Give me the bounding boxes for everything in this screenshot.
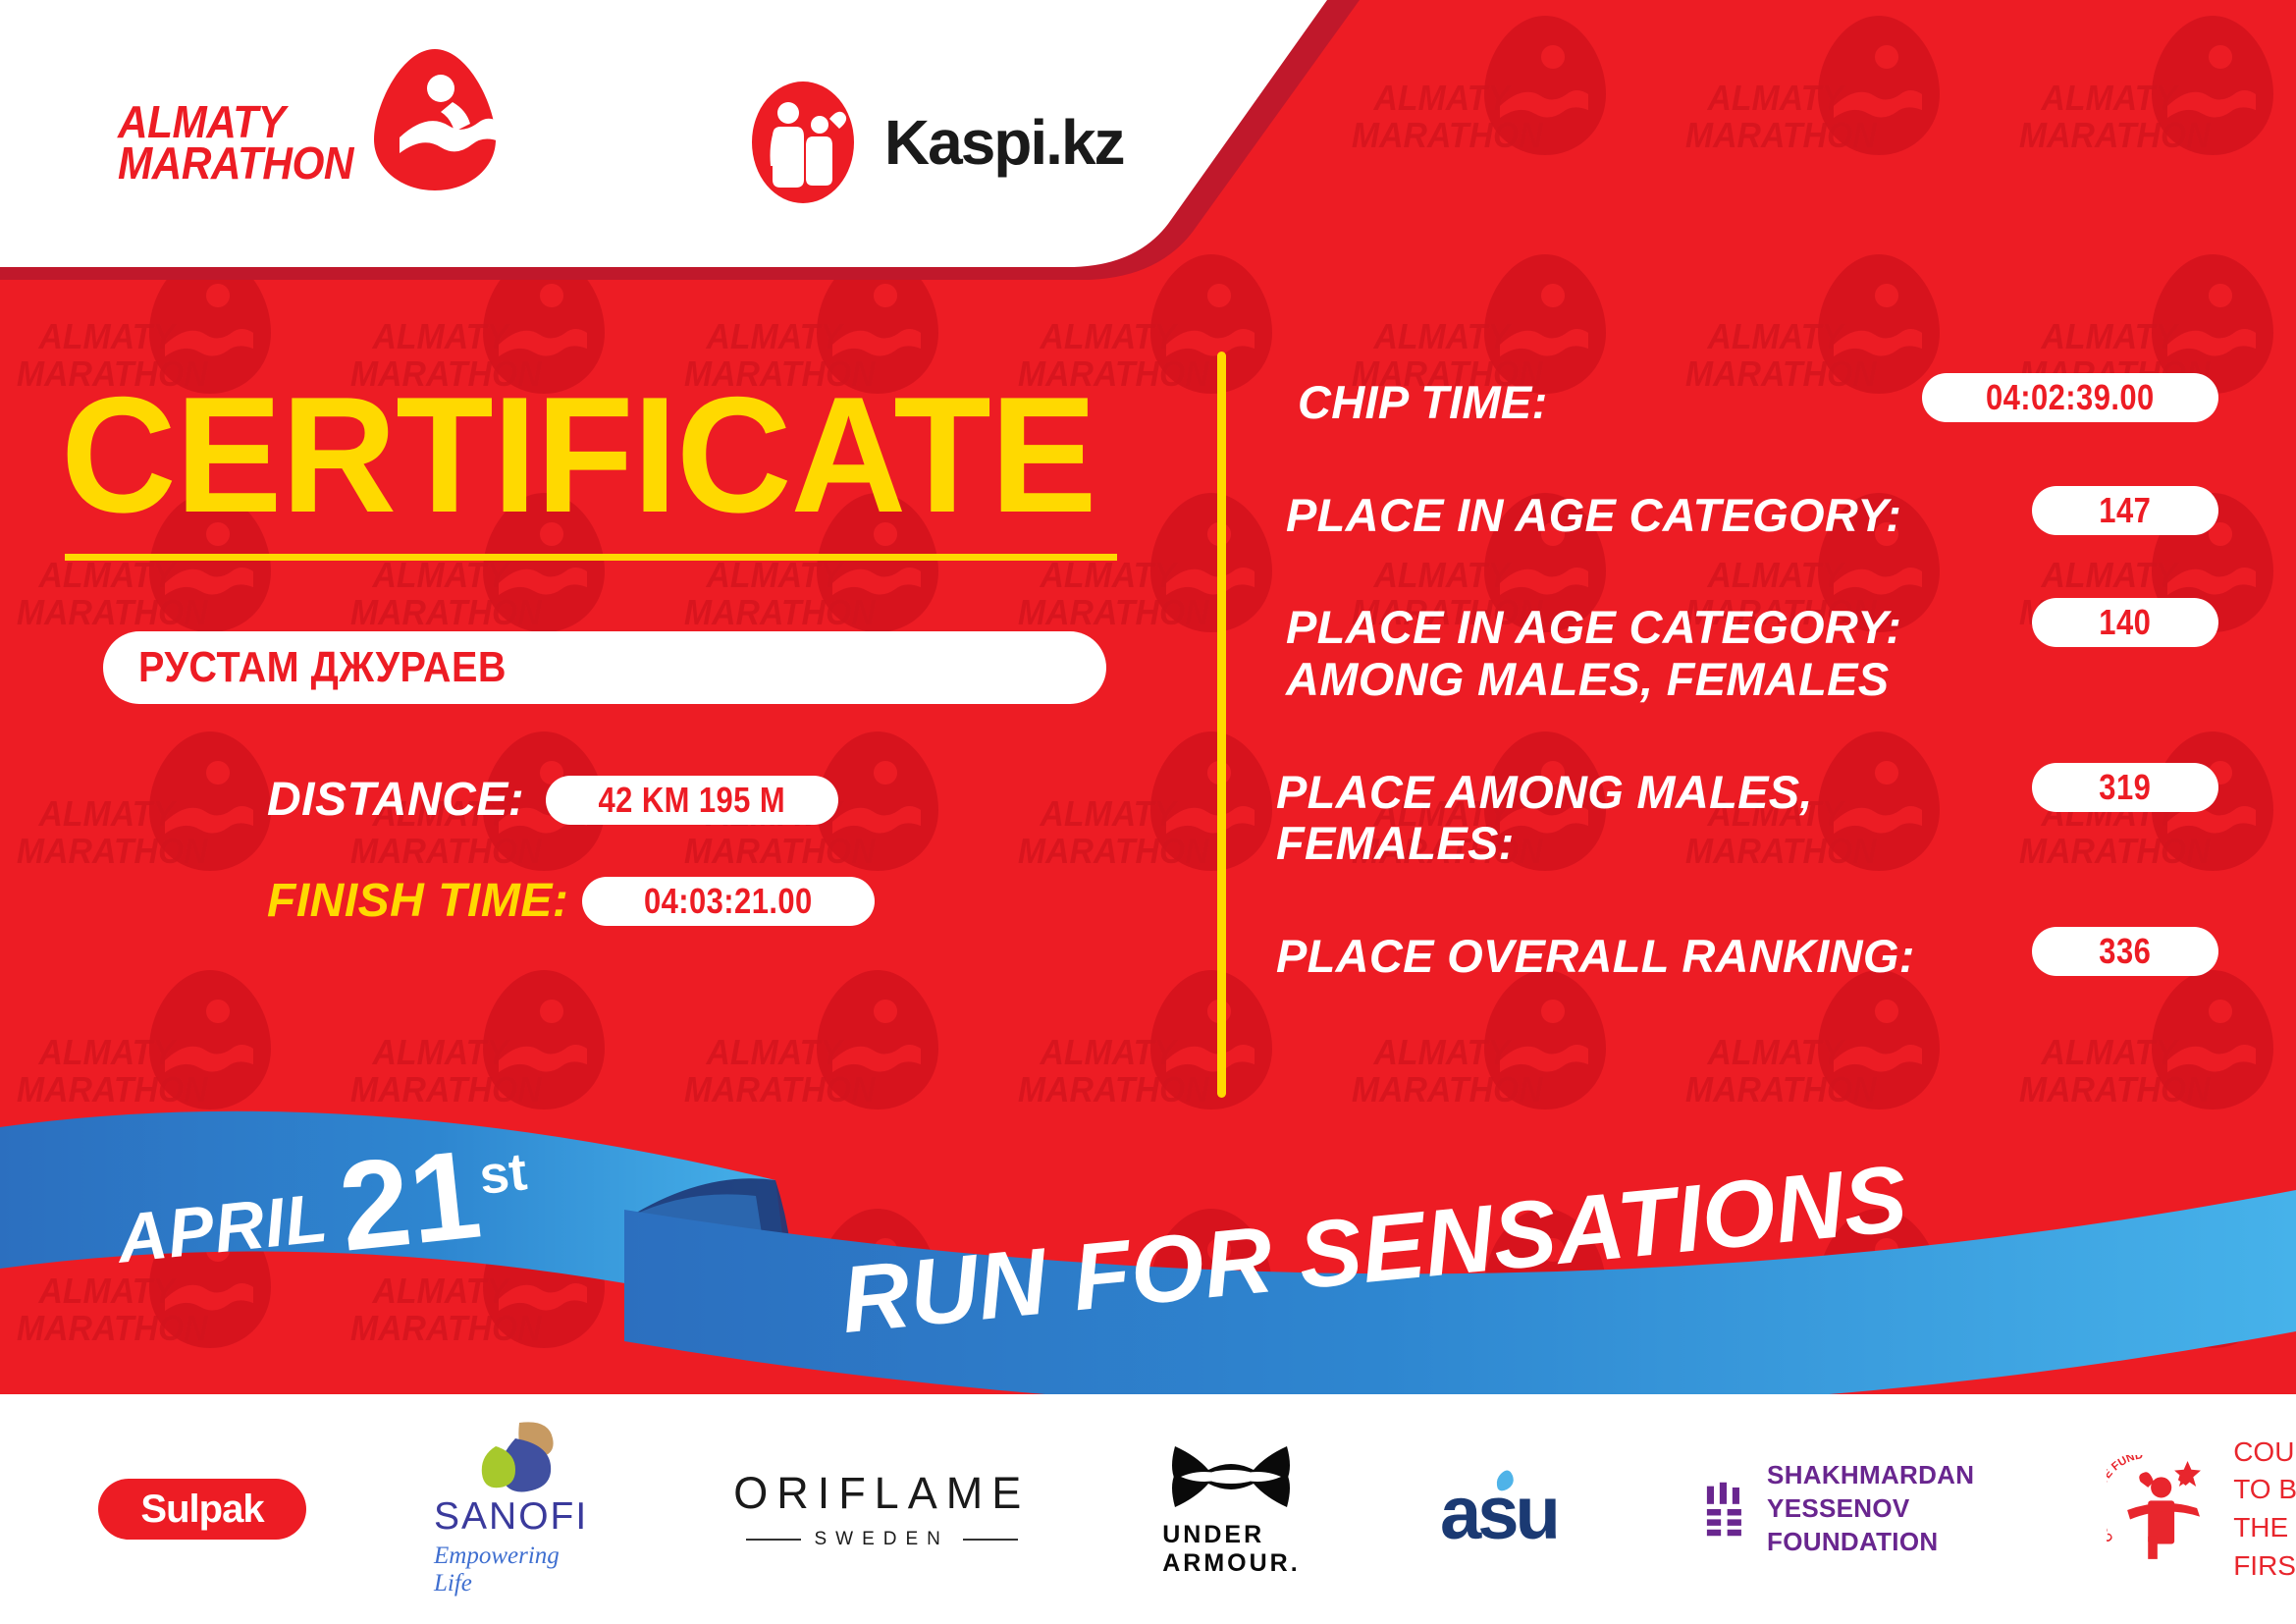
sponsor-yessenov-foundation: SHAKHMARDAN YESSENOV FOUNDATION	[1703, 1459, 1999, 1558]
oriflame-wordmark: ORIFLAME	[733, 1468, 1030, 1519]
under-armour-wordmark: UNDER ARMOUR.	[1162, 1521, 1300, 1578]
almaty-logo-line2: MARATHON	[118, 142, 353, 184]
sponsor-oriflame: ORIFLAME SWEDEN	[733, 1468, 1030, 1550]
place-age-category-among-value-pill: 140	[2032, 598, 2218, 647]
vertical-divider	[1217, 352, 1226, 1098]
runner-drop-icon	[370, 45, 500, 194]
place-age-category-label: PLACE IN AGE CATEGORY:	[1286, 486, 1901, 542]
stat-row-chip-time: CHIP TIME: 04:02:39.00	[1298, 373, 2218, 429]
sulpak-wordmark: Sulpak	[140, 1488, 263, 1532]
event-day-suffix: st	[476, 1141, 529, 1207]
yessenov-mark-icon	[1703, 1468, 1747, 1550]
chip-time-label: CHIP TIME:	[1298, 373, 1548, 429]
finish-time-label: FINISH TIME:	[267, 874, 568, 928]
place-overall-value-pill: 336	[2032, 927, 2218, 976]
place-overall-value: 336	[2100, 931, 2152, 972]
kaspi-people-icon	[745, 80, 861, 205]
event-day: 21	[335, 1141, 485, 1263]
distance-value-pill: 42 KM 195 M	[546, 776, 838, 825]
almaty-logo-line1: ALMATY	[118, 101, 353, 142]
athlete-name-value: РУСТАМ ДЖУРАЕВ	[138, 643, 507, 692]
courage-fund-icon: CORPORATE FUND	[2107, 1455, 2217, 1563]
place-overall-label: PLACE OVERALL RANKING:	[1276, 927, 1915, 983]
certificate-left-panel: CERTIFICATE РУСТАМ ДЖУРАЕВ DISTANCE: 42 …	[0, 295, 1207, 928]
finish-time-row: FINISH TIME: 04:03:21.00	[267, 874, 1207, 928]
sulpak-logo: Sulpak	[98, 1479, 306, 1540]
place-among-males-females-label: PLACE AMONG MALES, FEMALES:	[1276, 763, 1813, 870]
distance-value: 42 KM 195 M	[599, 780, 786, 821]
svg-text:asu: asu	[1440, 1472, 1557, 1552]
event-month: APRIL	[114, 1178, 332, 1278]
results-stats-panel: CHIP TIME: 04:02:39.00 PLACE IN AGE CATE…	[1276, 373, 2218, 1039]
almaty-marathon-wordmark: ALMATY MARATHON	[118, 101, 353, 185]
chip-time-value: 04:02:39.00	[1986, 377, 2155, 418]
sponsor-bar: Sulpak SANOFI Empowering Life ORIFLAME S…	[0, 1394, 2296, 1624]
oriflame-rule-right	[963, 1539, 1018, 1541]
sponsor-courage-fund: CORPORATE FUND COURAGE TO BE THE FIRST!	[2107, 1434, 2296, 1586]
place-age-category-among-label: PLACE IN AGE CATEGORY: AMONG MALES, FEMA…	[1286, 598, 1901, 705]
place-age-category-value: 147	[2100, 490, 2152, 531]
sponsor-under-armour: UNDER ARMOUR.	[1162, 1440, 1300, 1578]
place-age-category-among-value: 140	[2100, 602, 2152, 643]
yessenov-wordmark: SHAKHMARDAN YESSENOV FOUNDATION	[1767, 1459, 1999, 1558]
asu-logo-icon: asu	[1438, 1466, 1585, 1552]
sponsor-sanofi: SANOFI Empowering Life	[434, 1421, 588, 1597]
sponsor-asu: asu	[1438, 1466, 1585, 1552]
sanofi-mark-icon	[462, 1421, 561, 1493]
stat-row-place-overall: PLACE OVERALL RANKING: 336	[1276, 927, 2218, 983]
finish-time-value: 04:03:21.00	[644, 881, 813, 922]
distance-row: DISTANCE: 42 KM 195 M	[267, 773, 1207, 827]
certificate-canvas: ALMATY MARATHON ALMATY MARATHON	[0, 0, 2296, 1624]
svg-text:CORPORATE FUND: CORPORATE FUND	[2107, 1455, 2144, 1543]
distance-label: DISTANCE:	[267, 773, 524, 827]
almaty-marathon-logo: ALMATY MARATHON	[118, 90, 500, 194]
courage-wordmark: COURAGE TO BE THE FIRST!	[2233, 1434, 2296, 1586]
place-among-males-females-value-pill: 319	[2032, 763, 2218, 812]
kaspi-logo: Kaspi.kz	[745, 80, 1124, 205]
stat-row-place-age-category: PLACE IN AGE CATEGORY: 147	[1286, 486, 2218, 542]
under-armour-icon	[1167, 1440, 1295, 1513]
stat-row-place-among-males-females: PLACE AMONG MALES, FEMALES: 319	[1276, 763, 2218, 870]
stat-row-place-age-category-among: PLACE IN AGE CATEGORY: AMONG MALES, FEMA…	[1286, 598, 2218, 705]
header-logos: ALMATY MARATHON	[0, 0, 1276, 285]
oriflame-subtitle-row: SWEDEN	[746, 1529, 1018, 1550]
athlete-name-field: РУСТАМ ДЖУРАЕВ	[103, 631, 1106, 704]
oriflame-subtitle: SWEDEN	[815, 1529, 949, 1550]
chip-time-value-pill: 04:02:39.00	[1922, 373, 2218, 422]
title-underline	[65, 554, 1117, 561]
place-among-males-females-value: 319	[2100, 767, 2152, 808]
finish-time-value-pill: 04:03:21.00	[582, 877, 875, 926]
oriflame-rule-left	[746, 1539, 801, 1541]
place-age-category-value-pill: 147	[2032, 486, 2218, 535]
kaspi-wordmark: Kaspi.kz	[884, 106, 1124, 179]
sanofi-wordmark: SANOFI	[434, 1495, 588, 1539]
sanofi-tagline: Empowering Life	[434, 1543, 588, 1597]
sponsor-sulpak: Sulpak	[98, 1479, 306, 1540]
certificate-title: CERTIFICATE	[61, 376, 1173, 534]
